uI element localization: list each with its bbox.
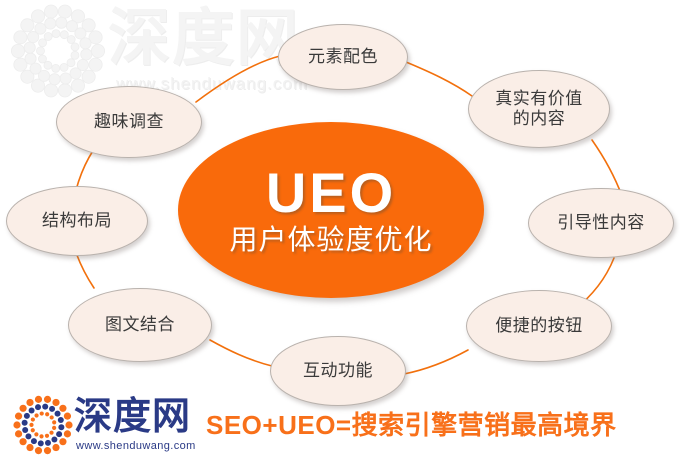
footer-tagline: SEO+UEO=搜索引擎营销最高境界	[206, 405, 617, 442]
node-bianjie-anniu[interactable]: 便捷的按钮	[466, 290, 612, 362]
node-jiegou-buju[interactable]: 结构布局	[6, 186, 148, 256]
node-label: 互动功能	[303, 361, 373, 381]
infographic-canvas: 深度网 www.shenduwang.com UEO 用户体验度优化	[0, 0, 680, 462]
connector-6	[210, 340, 272, 366]
node-zhenshi-neirong[interactable]: 真实有价值 的内容	[468, 70, 610, 148]
node-label: 趣味调查	[94, 112, 164, 132]
connector-2	[406, 62, 472, 96]
node-label: 元素配色	[308, 47, 378, 67]
connector-1	[196, 56, 280, 102]
footer-url: www.shenduwang.com	[76, 440, 196, 452]
node-label-line2: 的内容	[513, 109, 566, 129]
node-label: 图文结合	[105, 315, 175, 335]
center-node-ueo[interactable]: UEO 用户体验度优化	[178, 122, 484, 298]
node-tuwen-jiehe[interactable]: 图文结合	[68, 288, 212, 362]
node-yindao-neirong[interactable]: 引导性内容	[528, 188, 674, 258]
node-label: 便捷的按钮	[495, 316, 583, 336]
footer-bar: 深度网 www.shenduwang.com SEO+UEO=搜索引擎营销最高境…	[0, 392, 680, 462]
node-label: 结构布局	[42, 211, 112, 231]
connector-5	[404, 350, 468, 374]
node-quwei-diaocha[interactable]: 趣味调查	[56, 86, 202, 158]
node-label-line1: 真实有价值	[495, 89, 583, 109]
center-acronym: UEO	[266, 165, 396, 221]
shenduwang-logo-icon	[12, 394, 74, 456]
node-yuansu-peise[interactable]: 元素配色	[278, 24, 408, 90]
node-label: 引导性内容	[557, 213, 645, 233]
footer-brand: 深度网	[74, 398, 191, 436]
center-subtitle: 用户体验度优化	[229, 225, 432, 256]
